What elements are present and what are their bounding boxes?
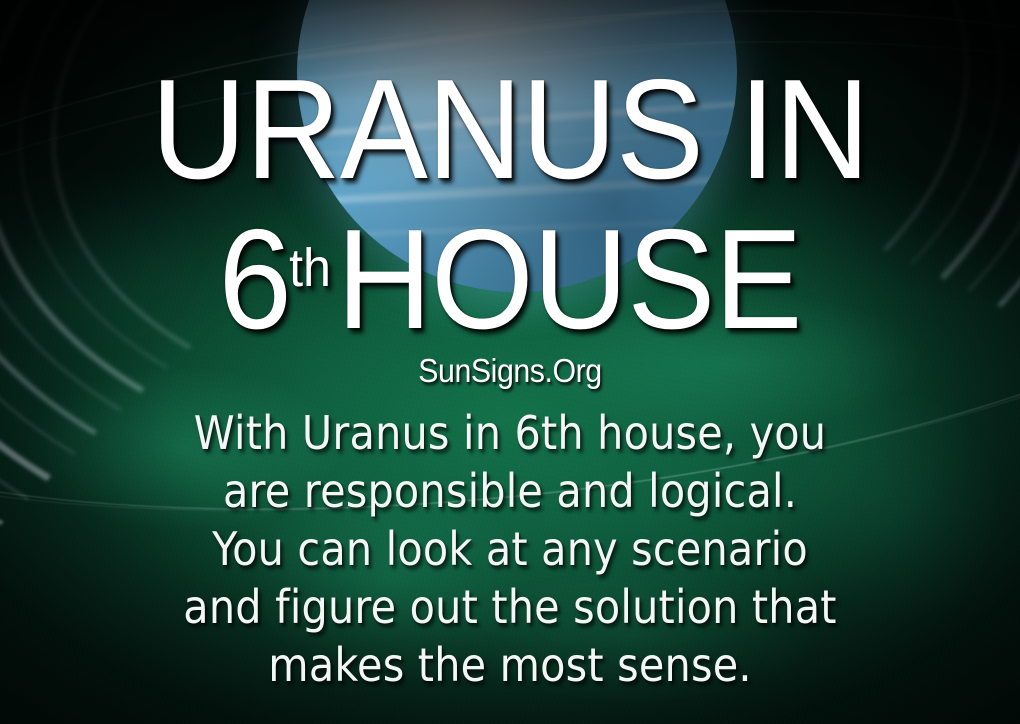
body-line: You can look at any scenario [51, 520, 969, 578]
poster-content: URANUS IN 6thHOUSE SunSigns.Org With Ura… [0, 0, 1020, 724]
site-branding: SunSigns.Org [41, 352, 979, 390]
body-line: are responsible and logical. [51, 462, 969, 520]
headline-word-house: HOUSE [337, 200, 802, 359]
headline-line-one: URANUS IN [36, 62, 985, 198]
body-line: makes the most sense. [51, 636, 969, 694]
body-line: With Uranus in 6th house, you [51, 404, 969, 462]
headline-line-two: 6thHOUSE [36, 212, 985, 348]
body-line: and figure out the solution that [51, 578, 969, 636]
headline-number: 6 [218, 200, 291, 359]
headline-ordinal-suffix: th [289, 238, 331, 298]
uranus-sixth-house-poster: URANUS IN 6thHOUSE SunSigns.Org With Ura… [0, 0, 1020, 724]
body-copy: With Uranus in 6th house, you are respon… [51, 404, 969, 694]
